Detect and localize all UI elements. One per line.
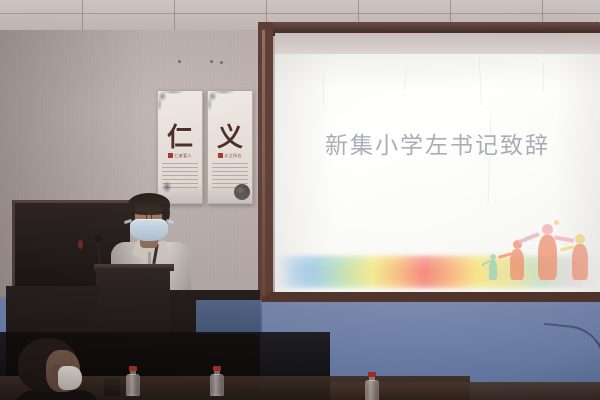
- water-bottle: [365, 372, 379, 400]
- audience-member: [14, 338, 88, 400]
- wall-fixture-dot: [210, 60, 213, 63]
- microphone-head: [95, 235, 102, 242]
- door-handle: [78, 240, 83, 249]
- face-mask: [130, 219, 168, 241]
- projector-screen-frame: [258, 22, 600, 302]
- red-seal-icon: [218, 153, 223, 158]
- frame-highlight: [262, 30, 265, 296]
- poster-subtitle-yi: 义之所在: [212, 153, 248, 159]
- eyeglasses-icon: [132, 212, 166, 219]
- poster-ink-wash: [208, 183, 252, 203]
- poster-subtitle-ren: 仁者爱人: [162, 153, 198, 159]
- bottle-body: [126, 374, 140, 396]
- bamboo-illustration: [207, 90, 242, 115]
- dark-tumbler: [104, 378, 120, 396]
- bottle-body: [210, 374, 224, 396]
- wall-poster-yi: 义 义之所在: [207, 90, 253, 204]
- audience-face-mask: [58, 366, 82, 390]
- photo-scene: 仁 仁者爱人 义 义之所在 新集小学左书记致辞: [0, 0, 600, 400]
- wall-fixture-dot: [178, 60, 181, 63]
- wall-fixture-dot: [220, 61, 223, 64]
- poster-glyph-ren: 仁: [158, 117, 202, 154]
- water-bottle: [126, 366, 140, 396]
- wall-poster-ren: 仁 仁者爱人: [157, 90, 203, 204]
- bamboo-illustration: [157, 90, 192, 115]
- blue-chair-back: [196, 300, 262, 334]
- wall-cable: [536, 323, 600, 400]
- poster-glyph-yi: 义: [208, 117, 252, 154]
- bottle-body: [365, 380, 379, 400]
- water-bottle: [210, 366, 224, 396]
- red-seal-icon: [168, 153, 173, 158]
